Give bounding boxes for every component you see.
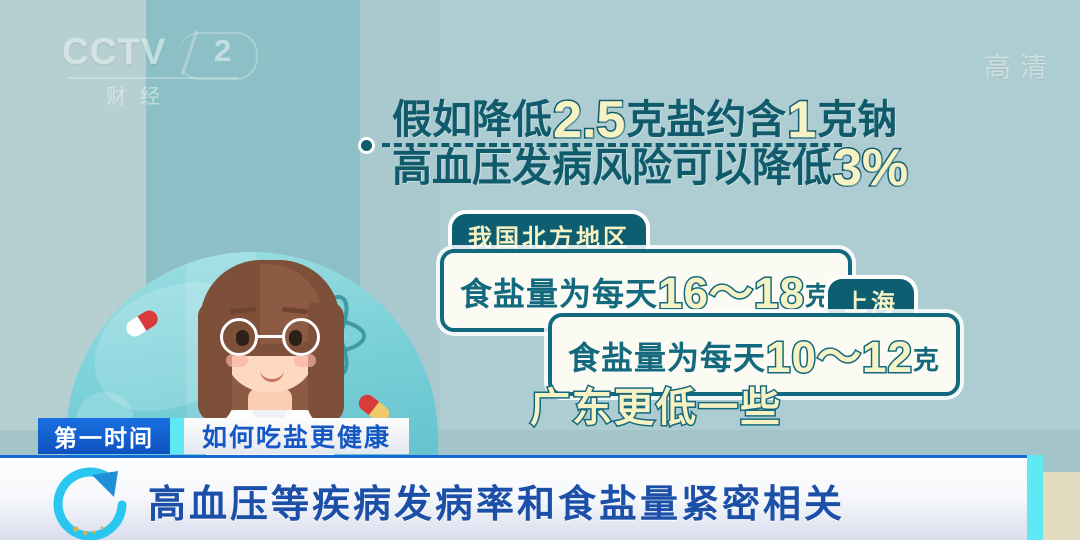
headline-text-b: 克盐约含 xyxy=(626,98,786,142)
headline-value-salt: 2.5 xyxy=(553,91,625,149)
news-ticker: 高血压等疾病发病率和食盐量紧密相关 xyxy=(0,455,1027,540)
headline-value-risk: 3% xyxy=(833,139,908,197)
headline-text-c: 克钠 xyxy=(817,98,897,142)
headline-value-sodium: 1 xyxy=(787,91,816,149)
program-bar: 第一时间 如何吃盐更健康 xyxy=(38,418,409,454)
region-shanghai-sep: ～ xyxy=(817,333,862,382)
tv-broadcast-screen: CCTV 2 财经 高清 xyxy=(0,0,1080,540)
program-name-badge: 第一时间 xyxy=(38,418,170,454)
headline-text-a: 假如降低 xyxy=(392,98,552,142)
region-note-guangdong: 广东更低一些 xyxy=(530,375,782,433)
headline-text-d: 高血压发病风险可以降低 xyxy=(392,146,832,190)
hd-watermark: 高清 xyxy=(984,46,1056,85)
cctv-channel-number: 2 xyxy=(214,33,231,69)
region-north-prefix: 食盐量为每天 xyxy=(460,276,658,312)
program-bar-divider xyxy=(170,418,184,454)
cctv-rule xyxy=(68,77,238,79)
segment-title: 如何吃盐更健康 xyxy=(184,418,409,454)
ticker-edge-accent xyxy=(1027,455,1043,540)
headline-line-2: 高血压发病风险可以降低3% xyxy=(392,144,862,192)
cctv-channel-name: 财经 xyxy=(106,80,174,109)
region-north-low: 16 xyxy=(658,269,709,318)
ticker-headline: 高血压等疾病发病率和食盐量紧密相关 xyxy=(148,473,845,528)
region-shanghai-prefix: 食盐量为每天 xyxy=(568,340,766,376)
bullet-dot-marker xyxy=(358,137,375,154)
headline-line-1: 假如降低2.5克盐约含1克钠 xyxy=(392,96,862,144)
region-north-high: 18 xyxy=(754,269,805,318)
eyeglasses-icon xyxy=(220,318,322,356)
cctv-logo: CCTV 2 财经 xyxy=(62,30,252,102)
region-shanghai-high: 12 xyxy=(862,333,913,382)
region-north-sep: ～ xyxy=(709,269,754,318)
headline-block: 假如降低2.5克盐约含1克钠 高血压发病风险可以降低3% xyxy=(392,96,862,192)
region-shanghai-unit: 克 xyxy=(913,345,940,375)
swoosh-arrow-icon xyxy=(40,461,136,540)
